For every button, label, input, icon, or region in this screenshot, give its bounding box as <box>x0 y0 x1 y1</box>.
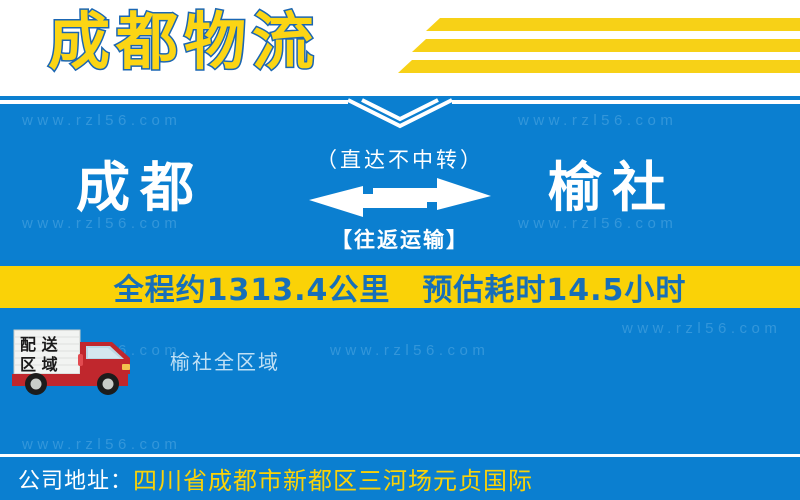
watermark: www.rzl56.com <box>622 320 781 337</box>
roundtrip-shipping-label: 【往返运输】 <box>0 224 800 254</box>
banner-body: www.rzl56.com www.rzl56.com www.rzl56.co… <box>0 96 800 500</box>
header-stripe-2 <box>412 39 800 52</box>
brand-title: 成都物流 <box>48 4 320 80</box>
delivery-truck-icon: 配 送 区 域 <box>8 328 156 396</box>
logistics-banner: 成都物流 www.rzl56.com www.rzl56.com www.rzl… <box>0 0 800 500</box>
banner-footer: 公司地址： 四川省成都市新都区三河场元贞国际 <box>0 457 800 500</box>
watermark: www.rzl56.com <box>22 436 181 453</box>
direct-shipping-label: （直达不中转） <box>0 144 800 174</box>
watermark: www.rzl56.com <box>330 342 489 359</box>
watermark: www.rzl56.com <box>518 112 677 129</box>
watermark: www.rzl56.com <box>22 112 181 129</box>
chevron-down-icon <box>340 96 460 130</box>
header-stripe-1 <box>426 18 800 31</box>
header-stripe-3 <box>398 60 800 73</box>
divider-line-right <box>452 100 800 104</box>
metric-distance: 全程约1313.4公里 <box>114 265 391 309</box>
footer-address-label: 公司地址： <box>18 463 133 495</box>
metric-duration: 预估耗时14.5小时 <box>422 265 686 309</box>
delivery-coverage-label: 榆社全区域 <box>170 346 280 375</box>
truck-box-text-line2: 区 域 <box>20 355 58 374</box>
footer-address-value: 四川省成都市新都区三河场元贞国际 <box>133 461 533 496</box>
truck-box-text-line1: 配 送 <box>20 335 59 354</box>
divider-line-left <box>0 100 348 104</box>
two-way-arrow-icon <box>285 176 515 220</box>
metrics-bar: 全程约1313.4公里 预估耗时14.5小时 <box>0 266 800 308</box>
banner-header: 成都物流 <box>0 0 800 96</box>
